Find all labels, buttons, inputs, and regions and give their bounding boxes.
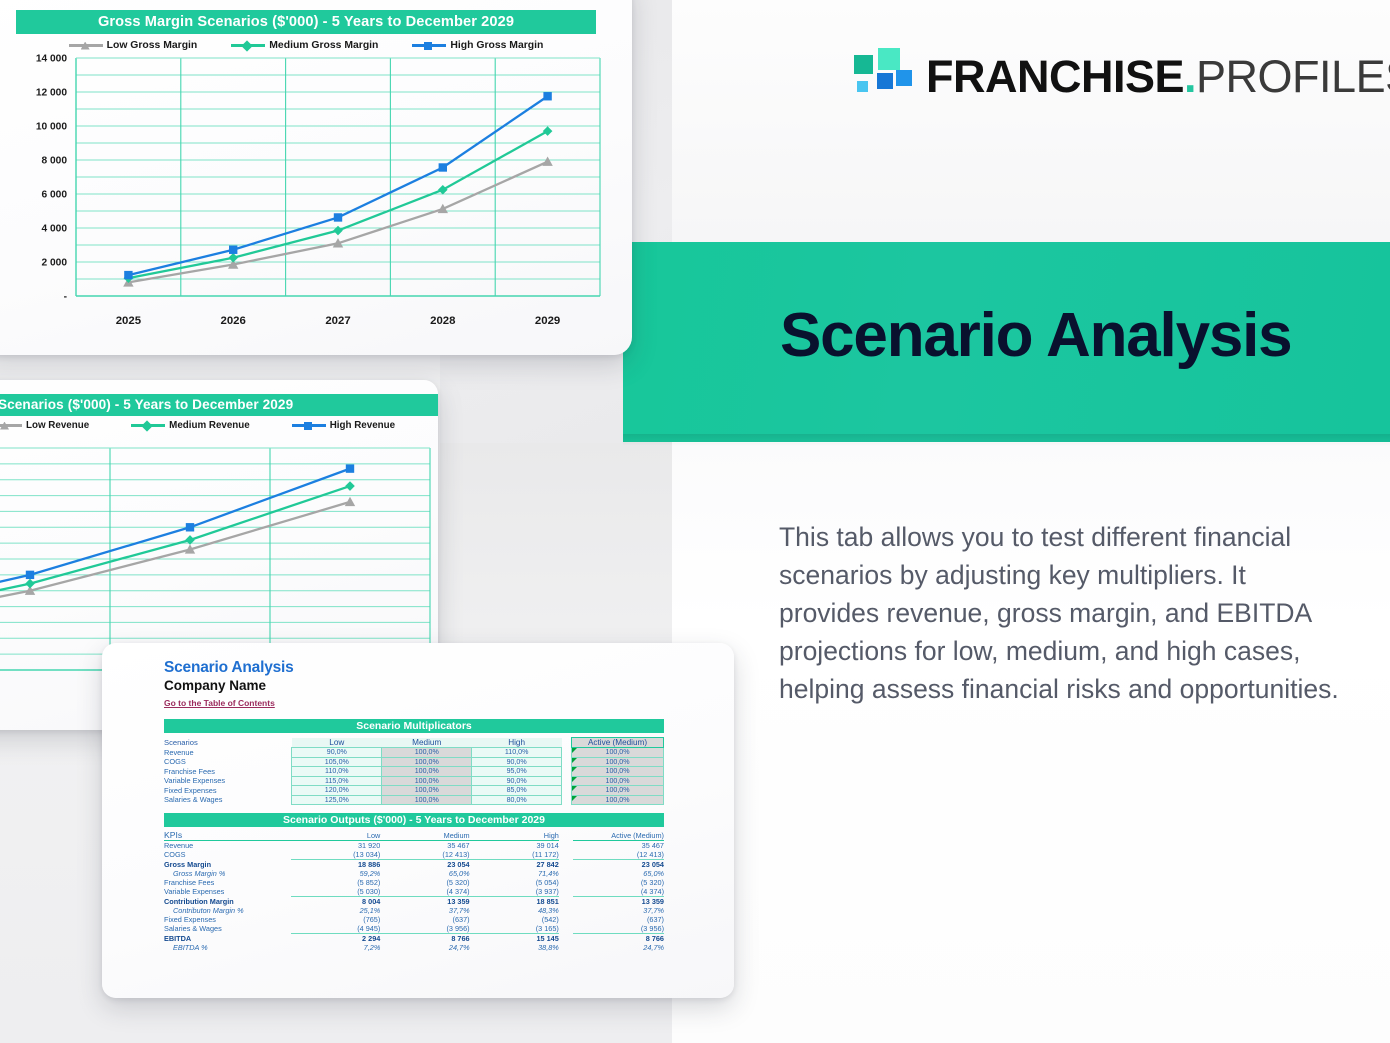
cell-high: 48,3% bbox=[470, 906, 559, 915]
spacer-cell bbox=[559, 869, 573, 878]
table-row: Gross Margin %59,2%65,0%71,4%65,0% bbox=[164, 869, 664, 878]
row-label: COGS bbox=[164, 757, 292, 767]
row-label: Fixed Expenses bbox=[164, 786, 292, 796]
outputs-col-high: High bbox=[470, 830, 559, 841]
logo-square-blue-pale bbox=[857, 81, 868, 92]
row-label: Fixed Expenses bbox=[164, 915, 291, 924]
cell-low: (13 034) bbox=[291, 850, 380, 860]
spacer-cell bbox=[559, 924, 573, 934]
multiplicators-col-high: High bbox=[472, 738, 562, 748]
spacer-cell bbox=[559, 934, 573, 944]
page-title: Scenario Analysis bbox=[780, 305, 1291, 367]
cell-active: 100,0% bbox=[572, 776, 664, 786]
cell-low[interactable]: 115,0% bbox=[292, 776, 382, 786]
logo-dot: . bbox=[1184, 51, 1196, 102]
row-label: EBITDA bbox=[164, 934, 291, 944]
logo-word-profiles: PROFILES bbox=[1196, 51, 1390, 102]
row-label: Salaries & Wages bbox=[164, 795, 292, 805]
cell-medium: 37,7% bbox=[380, 906, 469, 915]
cell-active: (4 374) bbox=[573, 887, 664, 897]
cell-medium: 24,7% bbox=[380, 943, 469, 952]
cell-active: 13 359 bbox=[573, 897, 664, 907]
logo-mark-icon bbox=[852, 48, 908, 104]
legend-item-low-revenue[interactable]: Low Revenue bbox=[0, 420, 89, 431]
svg-text:14 000: 14 000 bbox=[36, 54, 67, 65]
cell-high: 18 851 bbox=[470, 897, 559, 907]
background-panel-top-right bbox=[672, 0, 1390, 243]
cell-high: 27 842 bbox=[470, 860, 559, 870]
sheet-title: Scenario Analysis bbox=[164, 659, 664, 677]
multiplicators-header-row: Scenarios Low Medium High Active (Medium… bbox=[164, 738, 664, 748]
cell-medium: (3 956) bbox=[380, 924, 469, 934]
row-label: Contributon Margin % bbox=[164, 906, 291, 915]
cell-high: (11 172) bbox=[470, 850, 559, 860]
cell-high: 38,8% bbox=[470, 943, 559, 952]
cell-low: 7,2% bbox=[291, 943, 380, 952]
cell-active: 100,0% bbox=[572, 786, 664, 796]
row-label: Variable Expenses bbox=[164, 776, 292, 786]
cell-high: (3 165) bbox=[470, 924, 559, 934]
multiplicators-body: Revenue90,0%100,0%110,0%100,0%COGS105,0%… bbox=[164, 748, 664, 805]
brand-logo: FRANCHISE.PROFILES bbox=[852, 48, 1390, 104]
scenario-analysis-sheet-card: Scenario Analysis Company Name Go to the… bbox=[102, 643, 734, 998]
chart-title-revenue: ue Scenarios ($'000) - 5 Years to Decemb… bbox=[0, 394, 438, 416]
cell-medium: 8 766 bbox=[380, 934, 469, 944]
row-label: Franchise Fees bbox=[164, 767, 292, 777]
cell-low: (5 852) bbox=[291, 878, 380, 887]
spacer-cell bbox=[562, 767, 572, 777]
cell-active: (12 413) bbox=[573, 850, 664, 860]
spacer-cell bbox=[559, 897, 573, 907]
cell-active: 37,7% bbox=[573, 906, 664, 915]
cell-medium: (637) bbox=[380, 915, 469, 924]
table-row: Fixed Expenses120,0%100,0%85,0%100,0% bbox=[164, 786, 664, 796]
spacer-cell bbox=[562, 786, 572, 796]
page-description: This tab allows you to test different fi… bbox=[779, 518, 1339, 708]
multiplicators-col-medium: Medium bbox=[382, 738, 472, 748]
spacer-cell bbox=[562, 748, 572, 758]
logo-square-teal-light bbox=[878, 48, 900, 70]
cell-low[interactable]: 125,0% bbox=[292, 795, 382, 805]
cell-low[interactable]: 110,0% bbox=[292, 767, 382, 777]
table-row: Gross Margin18 88623 05427 84223 054 bbox=[164, 860, 664, 870]
table-row: Revenue31 92035 46739 01435 467 bbox=[164, 841, 664, 851]
outputs-col-low: Low bbox=[291, 830, 380, 841]
spacer-cell bbox=[559, 915, 573, 924]
spacer-cell bbox=[559, 887, 573, 897]
spacer-cell bbox=[562, 795, 572, 805]
table-row: COGS105,0%100,0%90,0%100,0% bbox=[164, 757, 664, 767]
cell-low[interactable]: 120,0% bbox=[292, 786, 382, 796]
spacer-cell bbox=[559, 850, 573, 860]
table-row: Variable Expenses115,0%100,0%90,0%100,0% bbox=[164, 776, 664, 786]
spacer-cell bbox=[559, 830, 573, 841]
multiplicators-col-active: Active (Medium) bbox=[572, 738, 664, 748]
logo-word-franchise: FRANCHISE bbox=[926, 51, 1184, 102]
cell-low[interactable]: 90,0% bbox=[292, 748, 382, 758]
table-row: Contributon Margin %25,1%37,7%48,3%37,7% bbox=[164, 906, 664, 915]
cell-active: 35 467 bbox=[573, 841, 664, 851]
cell-medium: (5 320) bbox=[380, 878, 469, 887]
row-label: COGS bbox=[164, 850, 291, 860]
cell-medium[interactable]: 100,0% bbox=[382, 795, 472, 805]
spacer-cell bbox=[559, 943, 573, 952]
cell-low: (5 030) bbox=[291, 887, 380, 897]
cell-active: 100,0% bbox=[572, 757, 664, 767]
table-row: Salaries & Wages(4 945)(3 956)(3 165)(3 … bbox=[164, 924, 664, 934]
chart-title-gross-margin: Gross Margin Scenarios ($'000) - 5 Years… bbox=[16, 10, 596, 34]
cell-medium[interactable]: 100,0% bbox=[382, 748, 472, 758]
spacer-cell bbox=[562, 757, 572, 767]
cell-high[interactable]: 90,0% bbox=[472, 757, 562, 767]
spacer-cell bbox=[559, 906, 573, 915]
table-row: Revenue90,0%100,0%110,0%100,0% bbox=[164, 748, 664, 758]
row-label: Revenue bbox=[164, 748, 292, 758]
cell-high[interactable]: 110,0% bbox=[472, 748, 562, 758]
cell-medium[interactable]: 100,0% bbox=[382, 767, 472, 777]
multiplicators-col-low: Low bbox=[292, 738, 382, 748]
cell-high: 39 014 bbox=[470, 841, 559, 851]
cell-high[interactable]: 85,0% bbox=[472, 786, 562, 796]
cell-low: (765) bbox=[291, 915, 380, 924]
table-row: COGS(13 034)(12 413)(11 172)(12 413) bbox=[164, 850, 664, 860]
cell-high: (3 937) bbox=[470, 887, 559, 897]
legend-label-high-revenue: High Revenue bbox=[330, 420, 395, 431]
cell-active: 100,0% bbox=[572, 767, 664, 777]
spacer-cell bbox=[559, 878, 573, 887]
spacer-cell bbox=[559, 841, 573, 851]
cell-active: 100,0% bbox=[572, 795, 664, 805]
svg-text:2027: 2027 bbox=[325, 315, 350, 327]
cell-low: 25,1% bbox=[291, 906, 380, 915]
spacer-cell bbox=[562, 776, 572, 786]
row-label: Franchise Fees bbox=[164, 878, 291, 887]
chart-plot-gross-margin: 14 00012 00010 0008 0006 0004 0002 000-2… bbox=[0, 46, 616, 336]
logo-square-blue-mid bbox=[877, 73, 893, 89]
cell-low: 8 004 bbox=[291, 897, 380, 907]
cell-medium: 35 467 bbox=[380, 841, 469, 851]
multiplicators-row-header: Scenarios bbox=[164, 738, 292, 748]
svg-text:12 000: 12 000 bbox=[36, 88, 67, 99]
svg-text:10 000: 10 000 bbox=[36, 122, 67, 133]
svg-text:2028: 2028 bbox=[430, 315, 455, 327]
spacer-cell bbox=[562, 738, 572, 748]
row-label: Variable Expenses bbox=[164, 887, 291, 897]
cell-low[interactable]: 105,0% bbox=[292, 757, 382, 767]
legend-marker-high-revenue-icon bbox=[292, 424, 326, 427]
section-header-outputs: Scenario Outputs ($'000) - 5 Years to De… bbox=[164, 813, 664, 827]
cell-medium: 23 054 bbox=[380, 860, 469, 870]
table-row: Fixed Expenses(765)(637)(542)(637) bbox=[164, 915, 664, 924]
spacer-cell bbox=[559, 860, 573, 870]
cell-high: 15 145 bbox=[470, 934, 559, 944]
cell-medium[interactable]: 100,0% bbox=[382, 786, 472, 796]
table-row: Franchise Fees(5 852)(5 320)(5 054)(5 32… bbox=[164, 878, 664, 887]
table-row: Contribution Margin8 00413 35918 85113 3… bbox=[164, 897, 664, 907]
cell-high: (5 054) bbox=[470, 878, 559, 887]
cell-high: 71,4% bbox=[470, 869, 559, 878]
svg-text:2 000: 2 000 bbox=[42, 258, 68, 269]
svg-text:2029: 2029 bbox=[535, 315, 560, 327]
logo-square-teal-dark bbox=[854, 55, 873, 74]
cell-low: 59,2% bbox=[291, 869, 380, 878]
cell-active: (3 956) bbox=[573, 924, 664, 934]
cell-high[interactable]: 90,0% bbox=[472, 776, 562, 786]
table-row: Franchise Fees110,0%100,0%95,0%100,0% bbox=[164, 767, 664, 777]
svg-text:-: - bbox=[64, 292, 67, 303]
legend-marker-medium-revenue-icon bbox=[131, 424, 165, 427]
cell-medium[interactable]: 100,0% bbox=[382, 757, 472, 767]
table-row: Variable Expenses(5 030)(4 374)(3 937)(4… bbox=[164, 887, 664, 897]
outputs-row-header: KPIs bbox=[164, 830, 291, 841]
legend-label-low-revenue: Low Revenue bbox=[26, 420, 89, 431]
cell-active: 100,0% bbox=[572, 748, 664, 758]
table-row: EBITDA2 2948 76615 1458 766 bbox=[164, 934, 664, 944]
logo-square-blue-bright bbox=[896, 70, 912, 86]
outputs-table: KPIs Low Medium High Active (Medium) Rev… bbox=[164, 830, 664, 952]
chart-card-gross-margin: Gross Margin Scenarios ($'000) - 5 Years… bbox=[0, 0, 632, 355]
svg-text:2026: 2026 bbox=[221, 315, 246, 327]
cell-high: (542) bbox=[470, 915, 559, 924]
cell-medium: (4 374) bbox=[380, 887, 469, 897]
cell-high[interactable]: 95,0% bbox=[472, 767, 562, 777]
legend-label-medium-revenue: Medium Revenue bbox=[169, 420, 250, 431]
cell-medium: 13 359 bbox=[380, 897, 469, 907]
legend-item-medium-revenue[interactable]: Medium Revenue bbox=[131, 420, 250, 431]
svg-text:8 000: 8 000 bbox=[42, 156, 68, 167]
row-label: Gross Margin % bbox=[164, 869, 291, 878]
cell-low: (4 945) bbox=[291, 924, 380, 934]
outputs-body: Revenue31 92035 46739 01435 467COGS(13 0… bbox=[164, 841, 664, 953]
cell-active: 23 054 bbox=[573, 860, 664, 870]
cell-low: 18 886 bbox=[291, 860, 380, 870]
svg-text:4 000: 4 000 bbox=[42, 224, 68, 235]
cell-active: (5 320) bbox=[573, 878, 664, 887]
cell-active: (637) bbox=[573, 915, 664, 924]
cell-active: 24,7% bbox=[573, 943, 664, 952]
table-row: EBITDA %7,2%24,7%38,8%24,7% bbox=[164, 943, 664, 952]
svg-text:6 000: 6 000 bbox=[42, 190, 68, 201]
svg-text:2025: 2025 bbox=[116, 315, 142, 327]
cell-low: 2 294 bbox=[291, 934, 380, 944]
row-label: Salaries & Wages bbox=[164, 924, 291, 934]
outputs-header-row: KPIs Low Medium High Active (Medium) bbox=[164, 830, 664, 841]
table-of-contents-link[interactable]: Go to the Table of Contents bbox=[164, 698, 275, 708]
hero-banner-shadow bbox=[623, 434, 1390, 446]
sheet-company: Company Name bbox=[164, 678, 664, 693]
section-header-multiplicators: Scenario Multiplicators bbox=[164, 719, 664, 733]
logo-wordmark: FRANCHISE.PROFILES bbox=[926, 54, 1390, 99]
legend-marker-low-revenue-icon bbox=[0, 424, 22, 427]
outputs-col-medium: Medium bbox=[380, 830, 469, 841]
outputs-col-active: Active (Medium) bbox=[573, 830, 664, 841]
legend-item-high-revenue[interactable]: High Revenue bbox=[292, 420, 395, 431]
cell-active: 65,0% bbox=[573, 869, 664, 878]
cell-medium[interactable]: 100,0% bbox=[382, 776, 472, 786]
row-label: Gross Margin bbox=[164, 860, 291, 870]
row-label: Contribution Margin bbox=[164, 897, 291, 907]
chart-legend-revenue: Low Revenue Medium Revenue High Revenue bbox=[0, 420, 420, 431]
cell-high[interactable]: 80,0% bbox=[472, 795, 562, 805]
multiplicators-table: Scenarios Low Medium High Active (Medium… bbox=[164, 737, 664, 805]
cell-low: 31 920 bbox=[291, 841, 380, 851]
table-row: Salaries & Wages125,0%100,0%80,0%100,0% bbox=[164, 795, 664, 805]
row-label: Revenue bbox=[164, 841, 291, 851]
cell-active: 8 766 bbox=[573, 934, 664, 944]
cell-medium: (12 413) bbox=[380, 850, 469, 860]
cell-medium: 65,0% bbox=[380, 869, 469, 878]
row-label: EBITDA % bbox=[164, 943, 291, 952]
